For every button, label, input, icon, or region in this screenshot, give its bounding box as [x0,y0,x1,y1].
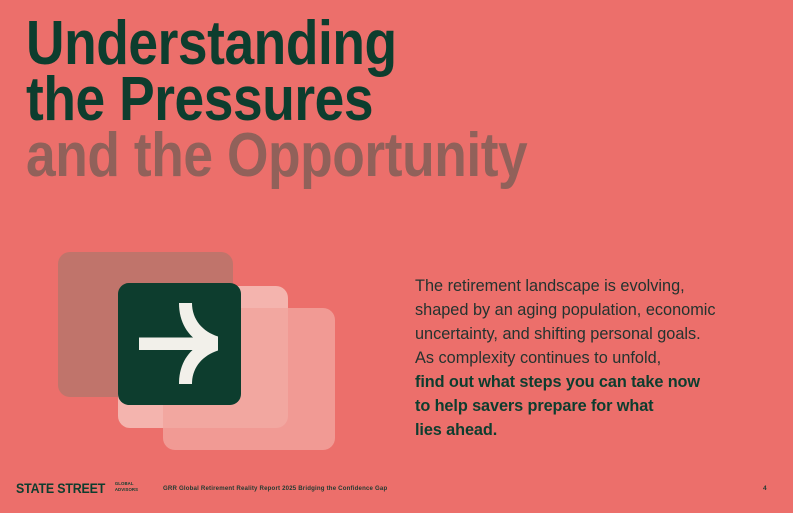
body-lead-line-1: The retirement landscape is evolving, [415,274,770,298]
logo-sub-wordmark: GLOBAL ADVISORS [115,481,138,492]
page-title: Understanding the Pressures and the Oppo… [26,16,646,183]
logo-wordmark: STATE STREET [16,481,105,496]
slide-canvas: Understanding the Pressures and the Oppo… [0,0,793,513]
body-emphasis-line-3: lies ahead. [415,418,770,442]
logo-sub-line-1: GLOBAL [115,481,134,486]
merging-arrow-right-icon [118,283,241,405]
footer-report-title: GRR Global Retirement Reality Report 202… [163,485,387,492]
page-number: 4 [763,485,767,492]
headline-line-3: and the Opportunity [26,128,559,184]
headline-line-1: Understanding [26,16,559,72]
logo-sub-line-2: ADVISORS [115,487,138,492]
body-lead-line-3: uncertainty, and shifting personal goals… [415,322,770,346]
body-emphasis-line-2: to help savers prepare for what [415,394,770,418]
body-emphasis-line-1: find out what steps you can take now [415,370,770,394]
body-copy: The retirement landscape is evolving, sh… [415,274,770,442]
layered-squares-graphic [55,252,355,452]
body-lead-line-2: shaped by an aging population, economic [415,298,770,322]
headline-line-2: the Pressures [26,72,559,128]
state-street-logo: STATE STREET GLOBAL ADVISORS [16,481,138,496]
body-lead-line-4: As complexity continues to unfold, [415,346,770,370]
